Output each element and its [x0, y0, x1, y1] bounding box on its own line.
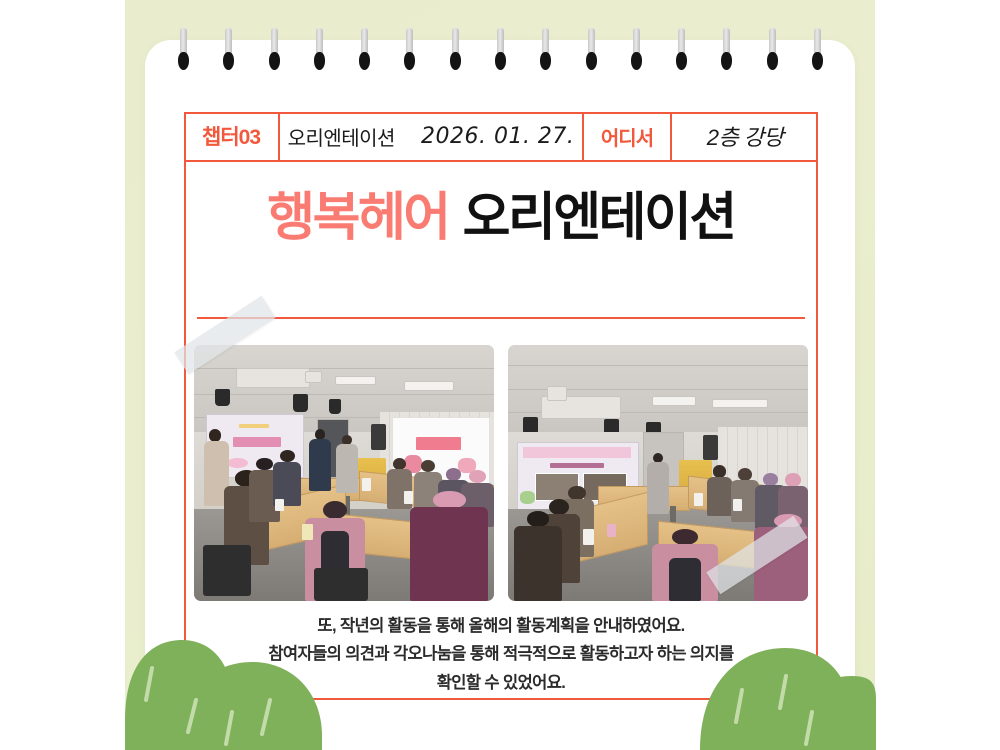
caption-line-2: 참여자들의 의견과 각오나눔을 통해 적극적으로 활동하고자 하는 의지를 [194, 640, 808, 668]
session-date: 2026. 01. 27. [421, 124, 574, 149]
where-value: 2층 강당 [672, 112, 818, 160]
title-main: 오리엔테이션 [463, 192, 735, 244]
poster-canvas: 챕터03 오리엔테이션 2026. 01. 27. 어디서 2층 강당 행복헤어… [0, 0, 1000, 750]
header-row: 챕터03 오리엔테이션 2026. 01. 27. 어디서 2층 강당 [184, 112, 818, 162]
photo-orientation-left [194, 345, 494, 601]
spiral-binding [145, 28, 855, 88]
session-title: 오리엔테이션 [288, 122, 395, 151]
caption-line-3: 확인할 수 있었어요. [194, 669, 808, 697]
chapter-badge: 챕터03 [184, 112, 280, 160]
where-label: 어디서 [584, 112, 672, 160]
photo-gallery [194, 345, 808, 601]
title-brand: 행복헤어 [267, 192, 448, 244]
caption-block: 또, 작년의 활동을 통해 올해의 활동계획을 안내하였어요. 참여자들의 의견… [194, 612, 808, 697]
title-divider [197, 317, 805, 319]
caption-line-1: 또, 작년의 활동을 통해 올해의 활동계획을 안내하였어요. [194, 612, 808, 640]
session-info: 오리엔테이션 2026. 01. 27. [280, 112, 584, 160]
page-title: 행복헤어 오리엔테이션 [184, 164, 818, 272]
notepad-card: 챕터03 오리엔테이션 2026. 01. 27. 어디서 2층 강당 행복헤어… [145, 40, 855, 750]
